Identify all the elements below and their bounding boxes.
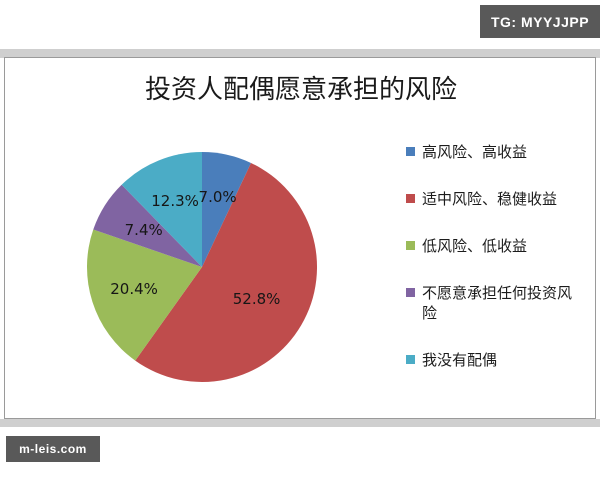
chart-legend: 高风险、高收益适中风险、稳健收益低风险、低收益不愿意承担任何投资风险我没有配偶 <box>406 142 586 397</box>
legend-item-label: 高风险、高收益 <box>422 142 527 162</box>
legend-item[interactable]: 高风险、高收益 <box>406 142 586 162</box>
legend-color-swatch-icon <box>406 147 415 156</box>
chart-title: 投资人配偶愿意承担的风险 <box>5 69 597 106</box>
legend-color-swatch-icon <box>406 194 415 203</box>
legend-color-swatch-icon <box>406 241 415 250</box>
legend-item[interactable]: 适中风险、稳健收益 <box>406 189 586 209</box>
legend-color-swatch-icon <box>406 288 415 297</box>
legend-item-label: 适中风险、稳健收益 <box>422 189 557 209</box>
legend-item[interactable]: 我没有配偶 <box>406 350 586 370</box>
bottom-gray-band <box>0 419 600 427</box>
pie-chart: 7.0%52.8%20.4%7.4%12.3% <box>86 151 318 383</box>
legend-item[interactable]: 低风险、低收益 <box>406 236 586 256</box>
chart-panel: 投资人配偶愿意承担的风险 7.0%52.8%20.4%7.4%12.3% 高风险… <box>4 57 596 419</box>
legend-item[interactable]: 不愿意承担任何投资风险 <box>406 283 586 323</box>
tg-watermark-badge: TG: MYYJJPP <box>480 5 600 38</box>
legend-item-label: 我没有配偶 <box>422 350 497 370</box>
legend-item-label: 不愿意承担任何投资风险 <box>422 283 572 323</box>
legend-color-swatch-icon <box>406 355 415 364</box>
site-watermark-badge: m-leis.com <box>6 436 100 462</box>
legend-item-label: 低风险、低收益 <box>422 236 527 256</box>
pie-chart-svg <box>86 151 318 383</box>
